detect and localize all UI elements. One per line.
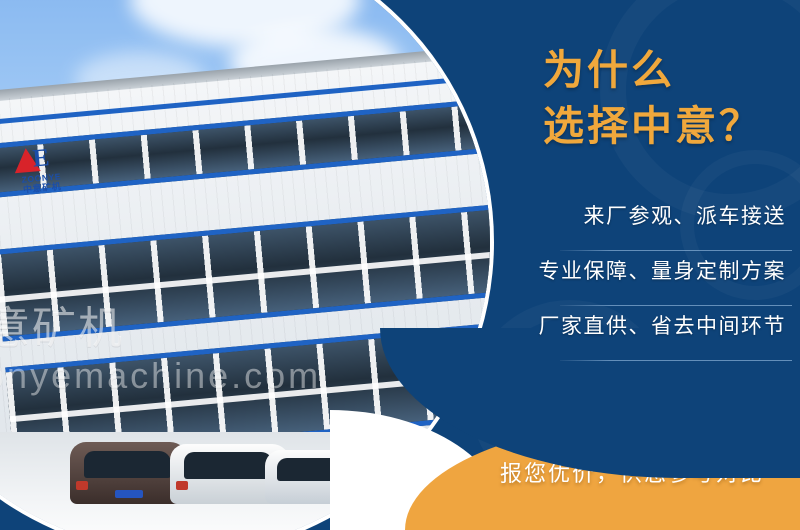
feature-divider (560, 360, 792, 361)
headline-line-1: 为什么 (543, 42, 763, 98)
promo-banner: E ZOONYE 中意矿机 中意矿机 zoonyemachine.com 报您优… (0, 0, 800, 530)
car-taillight (76, 481, 88, 490)
list-item: 来厂参观、派车接送 (530, 196, 792, 251)
feature-text: 专业保障、量身定制方案 (530, 251, 792, 293)
car-taillight (176, 481, 188, 490)
page-title: 为什么 选择中意？ (543, 42, 763, 154)
feature-text: 厂家直供、省去中间环节 (530, 306, 792, 348)
car-window (184, 452, 273, 478)
logo-letter-e: E (32, 146, 51, 171)
headline-line-2: 选择中意？ (543, 98, 763, 154)
feature-list: 来厂参观、派车接送 专业保障、量身定制方案 厂家直供、省去中间环节 (530, 196, 792, 361)
list-item: 专业保障、量身定制方案 (530, 251, 792, 306)
list-item: 厂家直供、省去中间环节 (530, 306, 792, 361)
company-logo: E ZOONYE 中意矿机 (0, 144, 83, 205)
car-plate (115, 490, 143, 498)
feature-text: 来厂参观、派车接送 (530, 196, 792, 238)
car-window (84, 451, 171, 478)
